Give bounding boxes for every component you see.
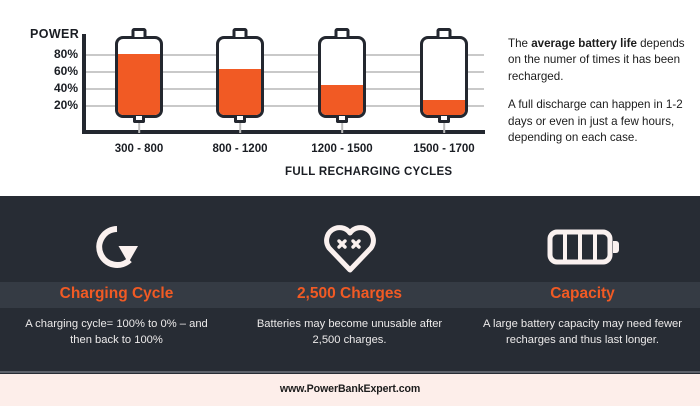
battery-foot-icon [438,116,450,123]
battery-body-icon [420,36,468,118]
dead-heart-icon [233,216,466,278]
feature-description: A charging cycle= 100% to 0% – and then … [16,316,217,348]
battery-body-icon [318,36,366,118]
feature-description: A large battery capacity may need fewer … [482,316,683,348]
y-tick-label: 60% [32,64,78,78]
battery-bar-chart: POWER 80% 60% 40% 20% 300 - 800 [0,0,500,196]
battery-fill-level [219,69,261,115]
section-divider [0,371,700,373]
footer-bar: www.PowerBankExpert.com [0,374,700,406]
battery-cap-icon [132,28,147,37]
battery-cap-icon [233,28,248,37]
y-tick-label: 80% [32,47,78,61]
battery-cap-icon [335,28,350,37]
x-axis-title: FULL RECHARGING CYCLES [285,166,452,178]
battery-cap-icon [437,28,452,37]
side-paragraph-1: The average battery life depends on the … [508,36,692,85]
side-p1-lead: The [508,37,531,50]
x-tick-label: 1500 - 1700 [394,143,494,155]
battery-foot-icon [133,116,145,123]
feature-charging-cycle: Charging Cycle A charging cycle= 100% to… [0,196,233,374]
battery-body-icon [115,36,163,118]
battery-foot-icon [234,116,246,123]
refresh-circular-arrow-icon [0,216,233,278]
battery-capacity-icon [466,216,699,278]
feature-capacity: Capacity A large battery capacity may ne… [466,196,699,374]
y-tick-label: 40% [32,81,78,95]
battery-foot-icon [336,116,348,123]
chart-section: POWER 80% 60% 40% 20% 300 - 800 [0,0,700,196]
side-explainer-text: The average battery life depends on the … [508,36,692,159]
y-tick-label: 20% [32,98,78,112]
feature-title: 2,500 Charges [233,285,466,303]
battery-fill-level [118,54,160,115]
battery-body-icon [216,36,264,118]
feature-description: Batteries may become unusable after 2,50… [249,316,450,348]
side-paragraph-2: A full discharge can happen in 1-2 days … [508,97,692,146]
side-p1-bold: average battery life [531,37,637,50]
feature-charge-count: 2,500 Charges Batteries may become unusa… [233,196,466,374]
feature-title: Charging Cycle [0,285,233,303]
footer-website-text: www.PowerBankExpert.com [0,383,700,395]
battery-column: 300 - 800 [89,0,189,196]
battery-column: 800 - 1200 [190,0,290,196]
x-tick-label: 1200 - 1500 [292,143,392,155]
battery-fill-level [423,100,465,115]
y-axis-ticks: 80% 60% 40% 20% [22,0,78,196]
features-section: Charging Cycle A charging cycle= 100% to… [0,196,700,374]
battery-fill-level [321,85,363,115]
x-tick-label: 300 - 800 [89,143,189,155]
y-axis-line [82,34,86,132]
x-tick-label: 800 - 1200 [190,143,290,155]
feature-title: Capacity [466,285,699,303]
